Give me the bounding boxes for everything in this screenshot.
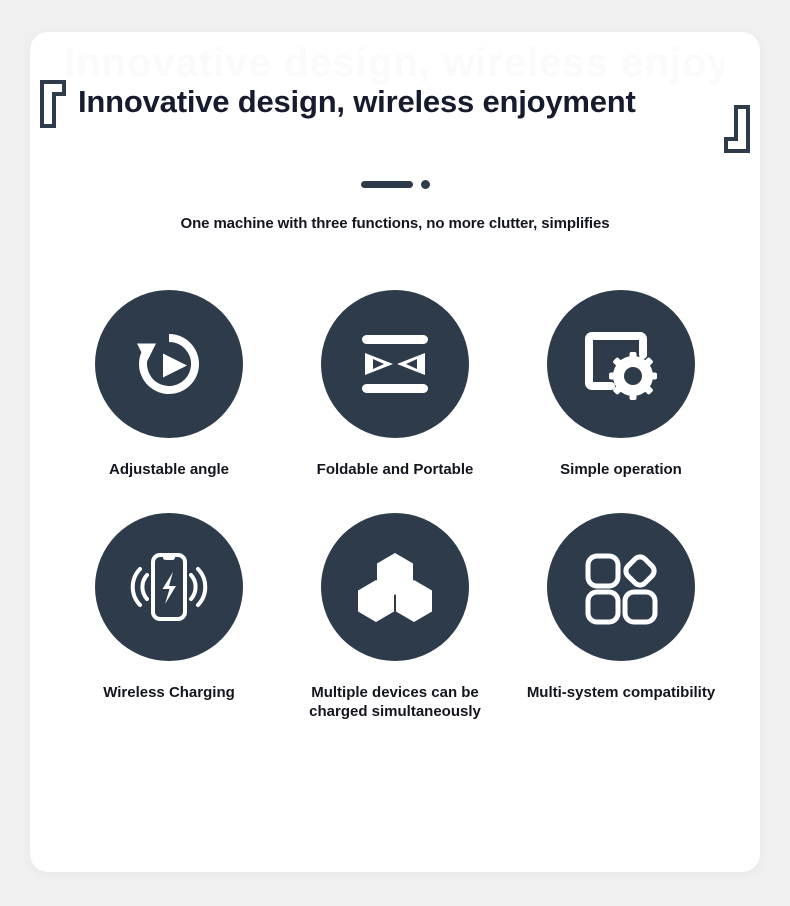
feature-item-adjustable-angle: Adjustable angle xyxy=(56,290,282,479)
feature-item-foldable-portable: Foldable and Portable xyxy=(282,290,508,479)
feature-label: Multi-system compatibility xyxy=(527,683,715,702)
rotate-play-icon xyxy=(126,321,212,407)
feature-label: Simple operation xyxy=(560,460,682,479)
feature-item-multi-system: Multi-system compatibility xyxy=(508,513,734,721)
icon-circle xyxy=(321,290,469,438)
page-root: Innovative design, wireless enjoyment In… xyxy=(0,0,790,906)
divider-dash-icon xyxy=(361,181,413,188)
icon-circle xyxy=(547,513,695,661)
feature-label: Foldable and Portable xyxy=(317,460,474,479)
card-header: Innovative design, wireless enjoyment In… xyxy=(30,32,760,152)
screen-gear-icon xyxy=(578,321,664,407)
hexagon-cluster-icon xyxy=(352,544,438,630)
icon-circle xyxy=(321,513,469,661)
divider xyxy=(30,180,760,189)
feature-label: Wireless Charging xyxy=(103,683,235,702)
page-title: Innovative design, wireless enjoyment xyxy=(78,84,636,120)
icon-circle xyxy=(95,513,243,661)
feature-item-wireless-charging: Wireless Charging xyxy=(56,513,282,721)
icon-circle xyxy=(547,290,695,438)
feature-item-multiple-devices: Multiple devices can be charged simultan… xyxy=(282,513,508,721)
subtitle: One machine with three functions, no mor… xyxy=(30,215,760,232)
wireless-charging-phone-icon xyxy=(126,544,212,630)
foldable-collapse-icon xyxy=(352,321,438,407)
multi-shape-grid-icon xyxy=(578,544,664,630)
watermark-text: Innovative design, wireless enjoyment xyxy=(64,36,724,90)
feature-label: Adjustable angle xyxy=(109,460,229,479)
feature-label: Multiple devices can be charged simultan… xyxy=(309,683,481,721)
feature-card: Innovative design, wireless enjoyment In… xyxy=(30,32,760,872)
feature-grid: Adjustable angle xyxy=(30,290,760,722)
divider-dot-icon xyxy=(421,180,430,189)
icon-circle xyxy=(95,290,243,438)
feature-item-simple-operation: Simple operation xyxy=(508,290,734,479)
corner-bracket-left-icon xyxy=(40,80,66,128)
corner-bracket-right-icon xyxy=(724,105,750,153)
